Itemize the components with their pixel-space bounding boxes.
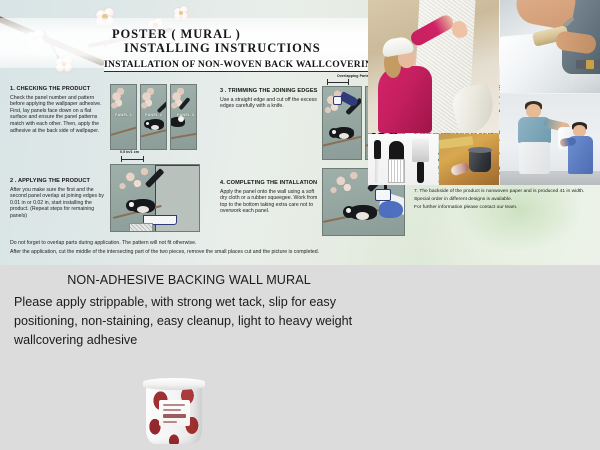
- notched-spreader-icon: [388, 139, 405, 184]
- panel-1-label: PANEL 1: [115, 113, 132, 117]
- figure-applying-panel: [110, 164, 200, 232]
- overlapping-parts-label: Overlapping Parts: [337, 74, 369, 78]
- step-2-applying-the-product: 2 . APPLYING THE PRODUCT After you make …: [10, 178, 110, 220]
- bird-illustration: [142, 107, 167, 135]
- step-1-heading: 1. CHECKING THE PRODUCT: [10, 86, 108, 92]
- bucket-label: [159, 400, 190, 426]
- figure-trimming-left: [322, 86, 362, 160]
- step-2-body: After you make sure the first and the se…: [10, 187, 110, 220]
- panel-2-label: PANEL 2: [145, 113, 162, 117]
- bird-illustration: [329, 111, 362, 143]
- step-4-completing-the-installation: 4. COMPLETING THE INTALLATION Apply the …: [220, 180, 322, 215]
- woman-applying-wallpaper-photo: [368, 0, 499, 133]
- scraper-tool-icon: [372, 140, 384, 184]
- broad-knife-icon: [412, 139, 429, 184]
- footer-note: After the application, cut the middle of…: [10, 249, 430, 256]
- product-description-section: NON-ADHESIVE BACKING WALL MURAL Please a…: [0, 265, 600, 450]
- gloved-hand-icon: [379, 201, 403, 218]
- sheet-title-block: POSTER ( MURAL ) INSTALLING INSTRUCTIONS: [112, 27, 412, 55]
- wooden-board: [439, 136, 473, 149]
- step-4-body: Apply the panel onto the wall using a so…: [220, 189, 322, 215]
- bird-illustration: [170, 105, 192, 133]
- tip-item: For further information please contact o…: [414, 205, 592, 211]
- page-title: POSTER ( MURAL ): [112, 27, 412, 41]
- sheet-footer-notes: Do not forget to overlap parts during ap…: [10, 240, 430, 258]
- promo-text-block: NON-ADHESIVE BACKING WALL MURAL Please a…: [14, 273, 364, 350]
- adult-trousers: [519, 142, 550, 174]
- pail-rim: [468, 147, 492, 153]
- step-2-heading: 2 . APPLYING THE PRODUCT: [10, 178, 110, 184]
- figure-panel-2: PANEL 2: [140, 84, 167, 150]
- tip-item: 7. The backside of the product is nonwov…: [414, 189, 592, 195]
- overlap-measure-label: 0.5 in/1 cm: [120, 150, 139, 154]
- belt-buckle: [586, 60, 594, 69]
- figure-panel-3: PANEL 3: [170, 84, 197, 150]
- wallpaper-tools-photo: [368, 134, 438, 185]
- paste-pail: [469, 150, 491, 172]
- photo-collage: [368, 0, 600, 185]
- step-1-checking-the-product: 1. CHECKING THE PRODUCT Check the panel …: [10, 86, 108, 134]
- step-3-trimming-the-joining-edges: 3 . TRIMMING THE JOINING EDGES Use a str…: [220, 88, 320, 110]
- man-and-boy-hanging-wallpaper-photo: [500, 94, 600, 185]
- tip-item: Special order in different designs is av…: [414, 197, 592, 203]
- panel-3-label: PANEL 3: [177, 113, 194, 117]
- paint-roller-icon: [450, 161, 470, 176]
- promo-body: Please apply strippable, with strong wet…: [14, 293, 364, 350]
- step-4-heading: 4. COMPLETING THE INTALLATION: [220, 180, 322, 186]
- step-1-body: Check the panel number and pattern befor…: [10, 95, 108, 135]
- adult-head: [526, 104, 541, 118]
- footer-note: Do not forget to overlap parts during ap…: [10, 240, 430, 247]
- hands-with-paint-roller-photo: [500, 0, 600, 93]
- bucket-lid: [143, 378, 205, 390]
- promo-heading: NON-ADHESIVE BACKING WALL MURAL: [14, 273, 364, 288]
- bird-illustration: [125, 183, 165, 219]
- figure-panel-1: PANEL 1: [110, 84, 137, 150]
- adhesive-bucket: [143, 374, 205, 446]
- step-3-heading: 3 . TRIMMING THE JOINING EDGES: [220, 88, 320, 94]
- paste-bucket-and-roller-photo: [439, 134, 499, 185]
- person-torso: [378, 66, 432, 133]
- step-3-body: Use a straight edge and cut off the exce…: [220, 97, 320, 110]
